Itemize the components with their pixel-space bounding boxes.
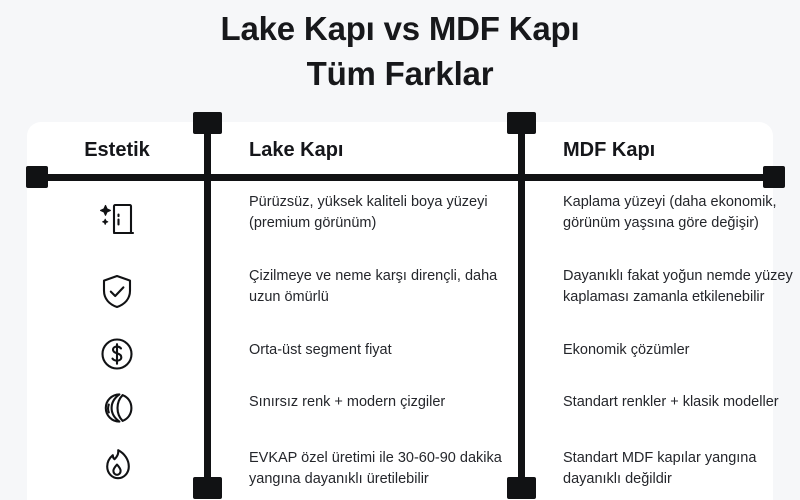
table-row: Pürüzsüz, yüksek kaliteli boya yüzeyi (p… [27,184,773,254]
sparkling-door-icon [27,184,207,254]
table-row: Orta-üst segment fiyat Ekonomik çözümler [27,328,773,380]
cell-lake-4: Sınırsız renk + modern çizgiler [249,392,529,413]
cell-lake-2: Çizilmeye ve neme karşı dirençli, daha u… [249,266,529,308]
page-title: Lake Kapı vs MDF Kapı Tüm Farklar [0,6,800,96]
cell-mdf-1: Kaplama yüzeyi (daha ekonomik, görünüm y… [563,192,795,234]
cell-lake-1: Pürüzsüz, yüksek kaliteli boya yüzeyi (p… [249,192,529,234]
vertical-divider-1-cap-top [193,112,222,134]
column-header-mdf: MDF Kapı [535,122,775,178]
cell-mdf-2: Dayanıklı fakat yoğun nemde yüzey kaplam… [563,266,795,308]
dollar-coin-glyph [96,333,138,375]
dollar-coin-icon [27,328,207,380]
header-divider-cap-right [763,166,785,188]
color-palette-icon [27,380,207,436]
cell-mdf-4: Standart renkler + klasik modeller [563,392,795,413]
cell-mdf-3: Ekonomik çözümler [563,340,795,361]
cell-lake-3: Orta-üst segment fiyat [249,340,529,361]
vertical-divider-2-cap-bottom [507,477,536,499]
vertical-divider-1-cap-bottom [193,477,222,499]
color-palette-glyph [96,387,138,429]
cell-lake-5: EVKAP özel üretimi ile 30-60-90 dakika y… [249,448,529,490]
flame-glyph [96,445,138,487]
shield-check-glyph [96,271,138,313]
column-header-feature: Estetik [27,122,207,178]
cell-mdf-5: Standart MDF kapılar yangına dayanıklı d… [563,448,795,490]
infographic-canvas: Lake Kapı vs MDF Kapı Tüm Farklar Esteti… [0,0,800,500]
column-header-lake: Lake Kapı [221,122,521,178]
table-row: EVKAP özel üretimi ile 30-60-90 dakika y… [27,436,773,496]
table-row: Sınırsız renk + modern çizgiler Standart… [27,380,773,436]
flame-icon [27,436,207,496]
vertical-divider-2-cap-top [507,112,536,134]
title-line-2: Tüm Farklar [0,51,800,96]
sparkling-door-glyph [94,196,140,242]
header-divider [26,174,785,181]
title-line-1: Lake Kapı vs MDF Kapı [0,6,800,51]
shield-check-icon [27,258,207,326]
table-row: Çizilmeye ve neme karşı dirençli, daha u… [27,258,773,326]
header-divider-cap-left [26,166,48,188]
